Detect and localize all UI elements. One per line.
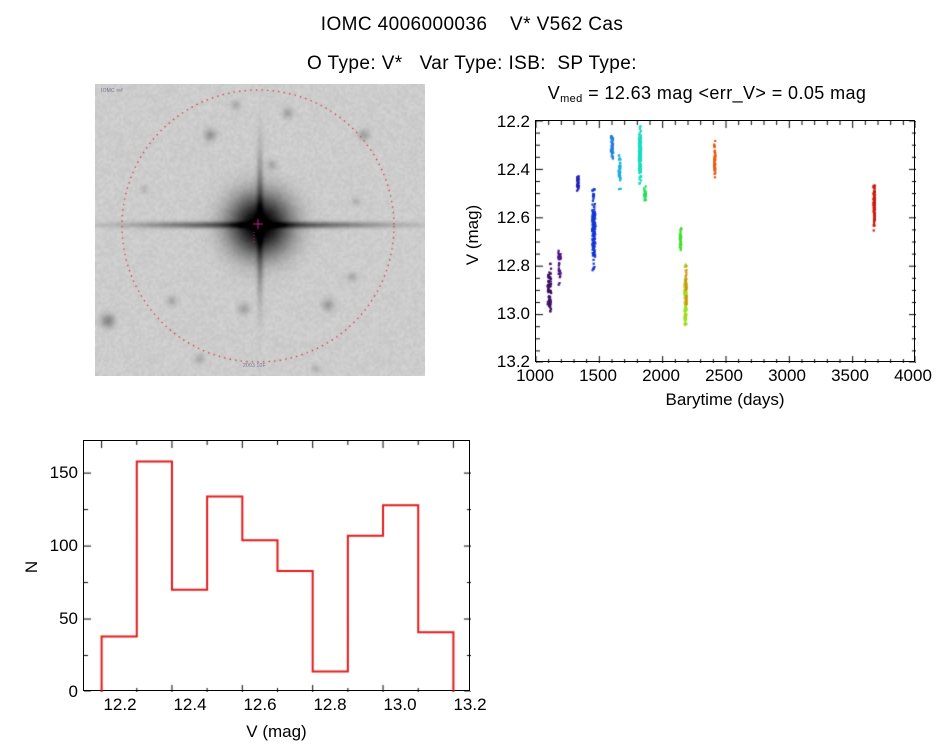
lc-xtick-0: 1000 — [505, 366, 565, 386]
lc-xtick-1: 1500 — [568, 366, 628, 386]
vmed-subscript: med — [560, 93, 583, 105]
lc-ytick-3: 12.8 — [478, 256, 530, 276]
hg-xtick-0: 12.2 — [90, 695, 150, 715]
object-type-line: O Type: V* Var Type: ISB: SP Type: — [0, 53, 944, 75]
lc-ytick-1: 12.4 — [478, 160, 530, 180]
hg-ytick-0: 0 — [30, 682, 78, 702]
hg-ytick-2: 100 — [30, 536, 78, 556]
lc-xtick-4: 3000 — [757, 366, 817, 386]
lc-xtick-6: 4000 — [883, 366, 943, 386]
light-curve-canvas — [536, 121, 916, 363]
lc-xtick-5: 3500 — [820, 366, 880, 386]
light-curve-x-axis-title: Barytime (days) — [535, 390, 915, 410]
magnitude-histogram-plot[interactable] — [83, 440, 470, 691]
hg-xtick-4: 13.0 — [370, 695, 430, 715]
hg-ytick-1: 50 — [30, 609, 78, 629]
lc-ytick-4: 13.0 — [478, 304, 530, 324]
vmed-symbol: V — [548, 83, 560, 103]
sky-corner-label-topleft: IOMC ref — [101, 88, 123, 94]
histogram-x-axis-title: V (mag) — [83, 722, 470, 742]
vmed-values: = 12.63 mag <err_V> = 0.05 mag — [588, 83, 866, 103]
hg-ytick-3: 150 — [30, 463, 78, 483]
page-title: IOMC 4006000036 V* V562 Cas — [0, 14, 944, 36]
hg-xtick-2: 12.6 — [230, 695, 290, 715]
hg-xtick-5: 13.2 — [440, 695, 500, 715]
lc-xtick-2: 2000 — [631, 366, 691, 386]
hg-xtick-1: 12.4 — [160, 695, 220, 715]
lc-xtick-3: 2500 — [694, 366, 754, 386]
light-curve-plot[interactable] — [535, 120, 915, 362]
sky-corner-label-bottom: 2003 10F — [243, 363, 266, 369]
sky-field-image[interactable]: IOMC ref 2003 10F — [95, 84, 425, 376]
lc-ytick-2: 12.6 — [478, 208, 530, 228]
sky-field-canvas — [95, 84, 425, 376]
lc-ytick-0: 12.2 — [478, 112, 530, 132]
hg-xtick-3: 12.8 — [300, 695, 360, 715]
median-magnitude-line: Vmed = 12.63 mag <err_V> = 0.05 mag — [470, 83, 944, 104]
magnitude-histogram-canvas — [84, 441, 471, 692]
